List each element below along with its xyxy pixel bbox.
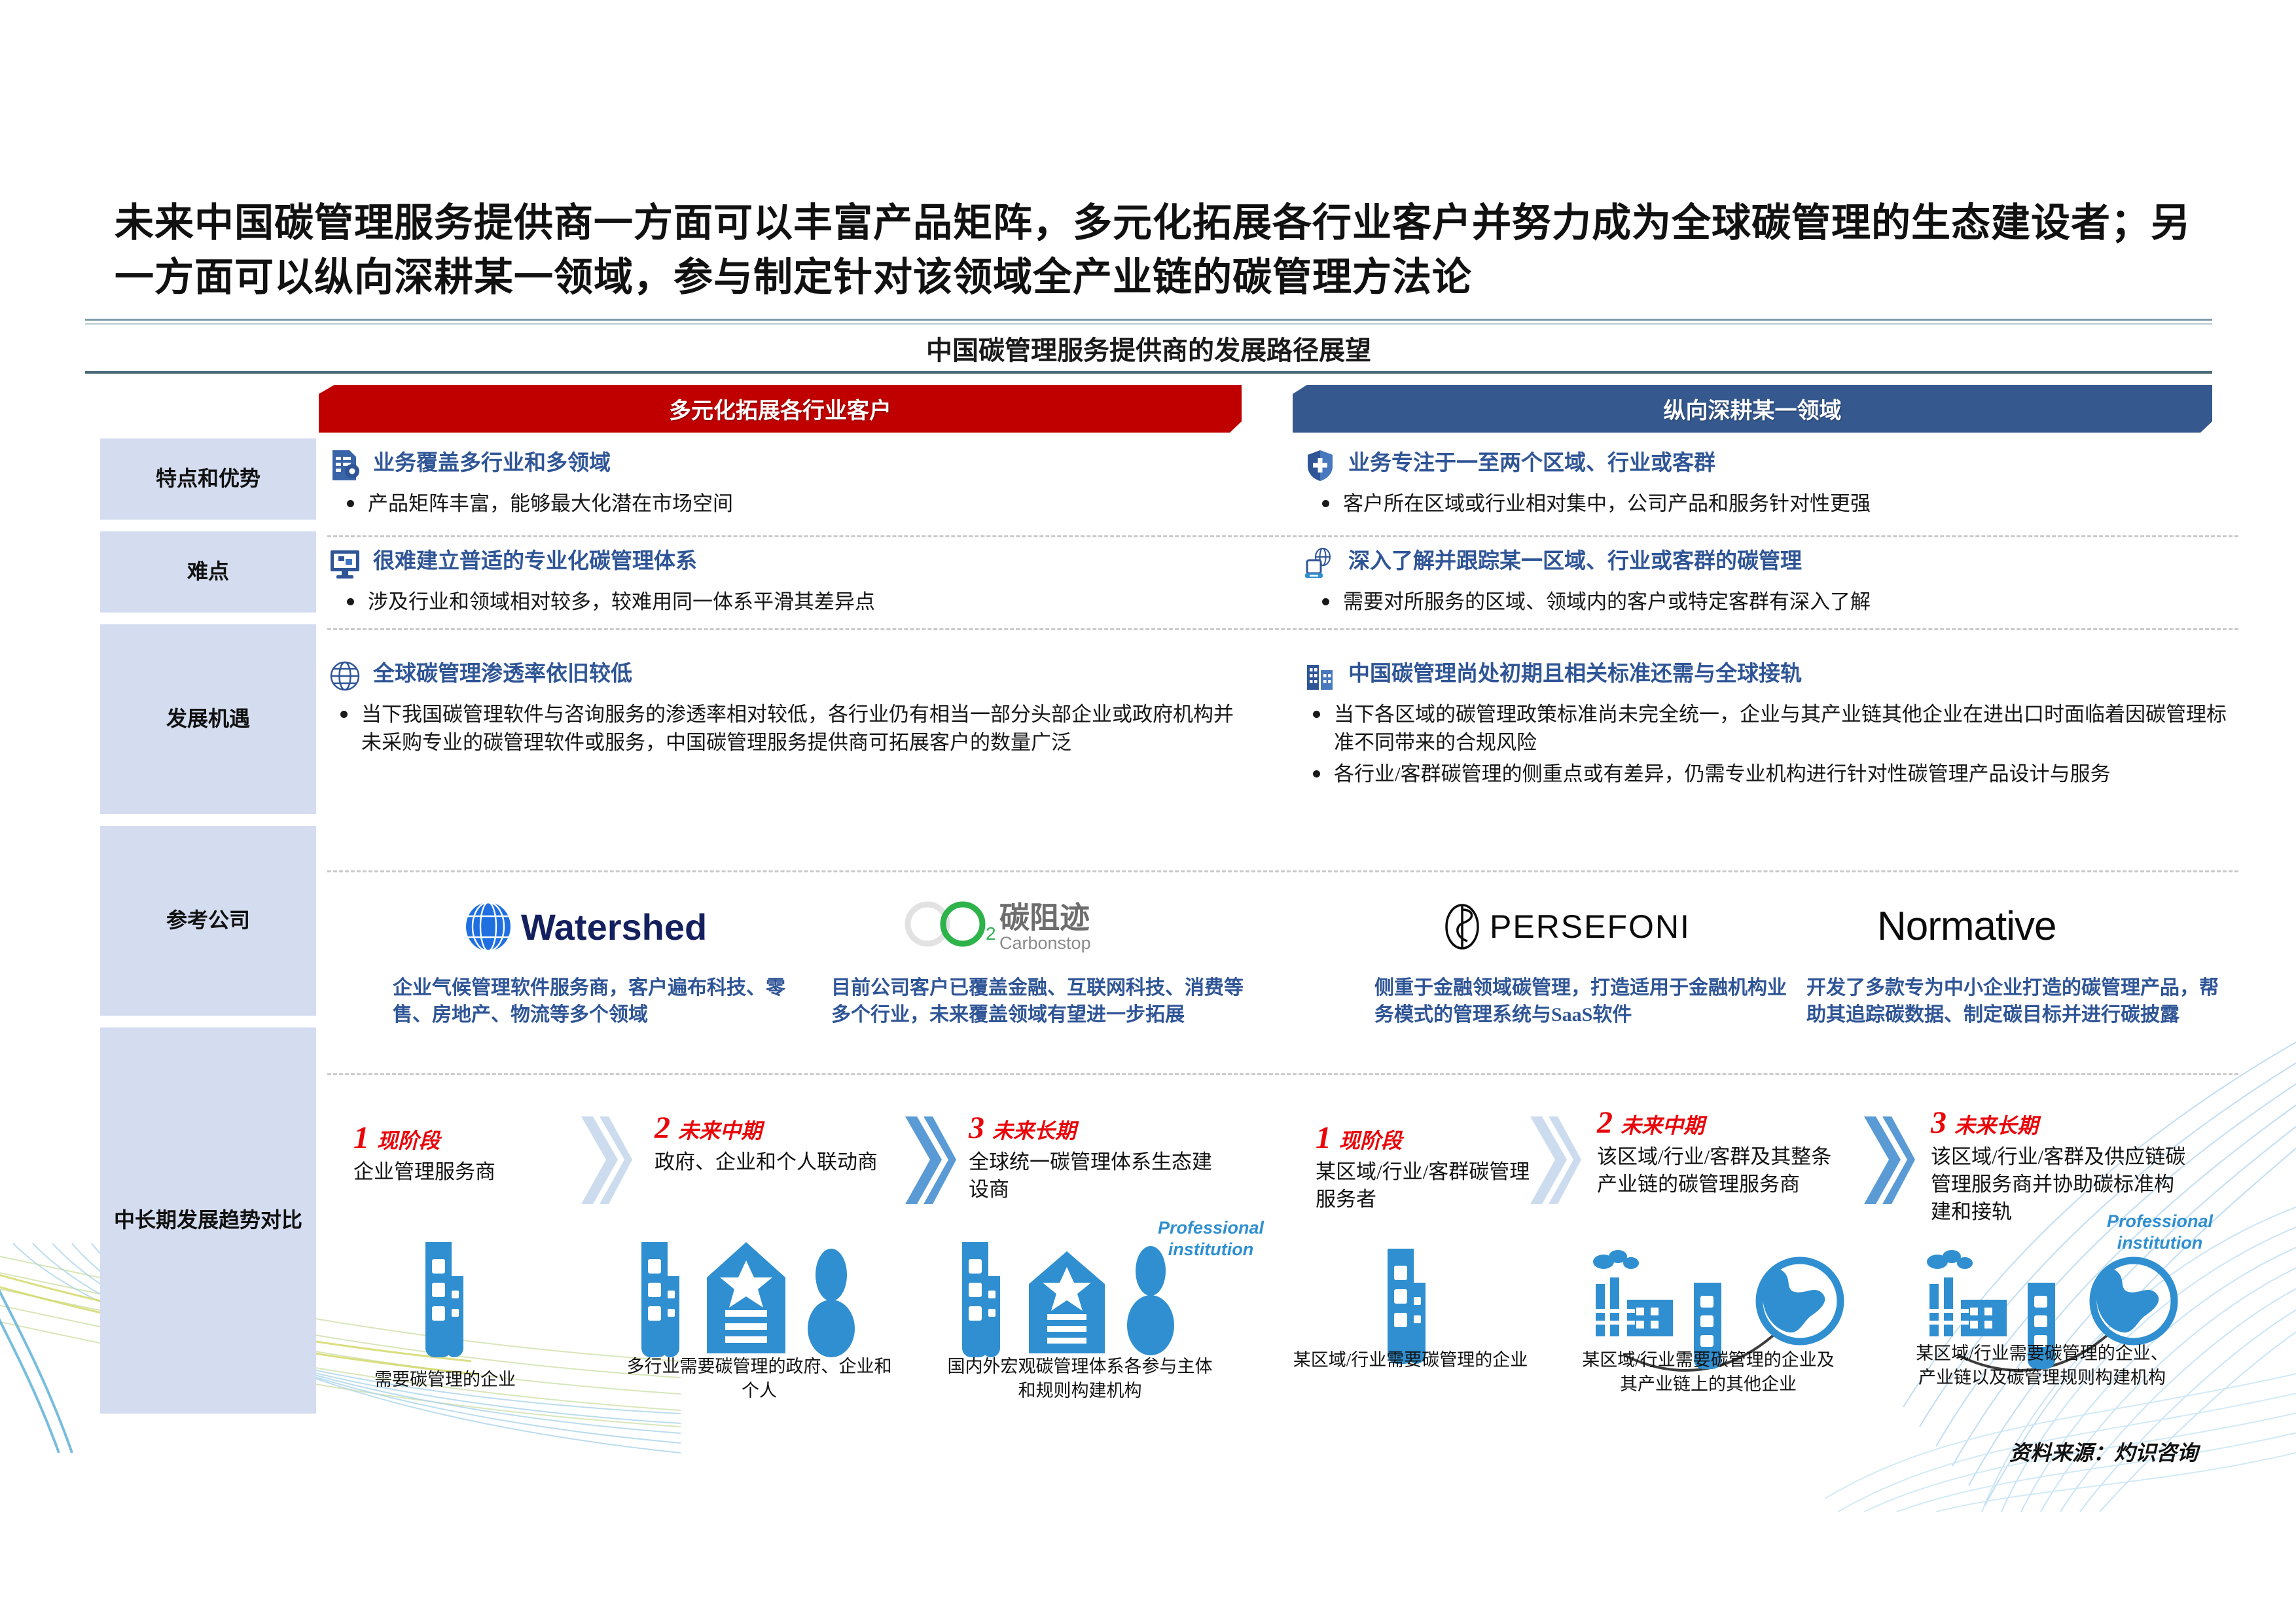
normative-logo: Normative: [1806, 895, 2219, 957]
icon-caption-left-1: 需要碳管理的企业: [295, 1368, 596, 1392]
trend-stage-left-2: 2 未来中期 政府、企业和个人联动商: [655, 1113, 890, 1176]
cell-difficulties-right: 深入了解并跟踪某一区域、行业或客群的碳管理 需要对所服务的区域、领域内的客户或特…: [1302, 548, 2238, 618]
banner-vertical-depth: 纵向深耕某一领域: [1293, 385, 2212, 433]
stage-number: 1: [353, 1122, 369, 1154]
bullet-list: 需要对所服务的区域、领域内的客户或特定客群有深入了解: [1302, 588, 2238, 616]
heading-text: 深入了解并跟踪某一区域、行业或客群的碳管理: [1348, 548, 1802, 575]
cell-opportunities-left: 全球碳管理渗透率依旧较低 当下我国碳管理软件与咨询服务的渗透率相对较低，各行业仍…: [327, 661, 1244, 760]
company-card-carbonstop: 2 碳阻迹 Carbonstop 目前公司客户已覆盖金融、互联网科技、消费等多个…: [831, 895, 1244, 1029]
row-separator-4: [327, 1073, 2238, 1075]
globe-icon: [2093, 1260, 2174, 1342]
trend-stage-right-3: 3 未来长期 该区域/行业/客群及供应链碳管理服务商并协助碳标准构建和接轨: [1931, 1107, 2186, 1226]
stage-phase: 未来中期: [1621, 1109, 1704, 1139]
svg-text:Watershed: Watershed: [521, 906, 707, 948]
document-gear-icon: [327, 448, 363, 483]
stage-desc: 全球统一碳管理体系生态建设商: [969, 1149, 1230, 1204]
company-card-normative: Normative 开发了多款专为中小企业打造的碳管理产品，帮助其追踪碳数据、制…: [1806, 895, 2219, 1029]
buildings-icon: [1302, 658, 1338, 694]
heading-text: 业务专注于一至两个区域、行业或客群: [1348, 450, 1715, 476]
stage-phase: 未来长期: [992, 1115, 1076, 1145]
trend-stage-right-2: 2 未来中期 该区域/行业/客群及其整条产业链的碳管理服务商: [1597, 1107, 1846, 1198]
globe-laptop-icon: [1302, 546, 1338, 581]
subtitle-rule-top: [85, 319, 2212, 321]
chevron-arrow-right-1: [1525, 1113, 1581, 1211]
shield-icon: [1302, 448, 1338, 483]
chevron-arrow-left-2: [900, 1113, 956, 1211]
building-icon: [641, 1242, 679, 1357]
stage-phase: 未来中期: [678, 1115, 762, 1145]
stage-desc: 该区域/行业/客群及其整条产业链的碳管理服务商: [1597, 1143, 1846, 1198]
person-icon: [1127, 1246, 1174, 1355]
svg-text:PERSEFONI: PERSEFONI: [1490, 908, 1691, 945]
page-title: 未来中国碳管理服务提供商一方面可以丰富产品矩阵，多元化拓展各行业客户并努力成为全…: [115, 196, 2196, 305]
stage-desc: 企业管理服务商: [353, 1158, 583, 1186]
row-label-advantages: 特点和优势: [100, 438, 316, 520]
person-icon: [808, 1249, 855, 1357]
chevron-arrow-right-2: [1859, 1113, 1915, 1211]
bullet-item: 当下各区域的碳管理政策标准尚未完全统一，企业与其产业链其他企业在进出口时面临着因…: [1305, 700, 2238, 757]
bullet-item: 各行业/客群碳管理的侧重点或有差异，仍需专业机构进行针对性碳管理产品设计与服务: [1305, 760, 2238, 788]
svg-text:Carbonstop: Carbonstop: [999, 933, 1091, 953]
bullet-list: 客户所在区域或行业相对集中，公司产品和服务针对性更强: [1302, 490, 2238, 518]
cell-advantages-left: 业务覆盖多行业和多领域 产品矩阵丰富，能够最大化潜在市场空间: [327, 450, 1244, 520]
bullet-item: 涉及行业和领域相对较多，较难用同一体系平滑其差异点: [339, 588, 1244, 616]
government-icon: [707, 1242, 785, 1353]
row-label-opportunities: 发展机遇: [100, 624, 316, 814]
bullet-item: 需要对所服务的区域、领域内的客户或特定客群有深入了解: [1314, 588, 2238, 616]
prof-institution-tag-left: Professional institution: [1139, 1217, 1283, 1260]
icon-caption-left-2: 多行业需要碳管理的政府、企业和个人: [622, 1355, 897, 1402]
icon-caption-right-3: 某区域/行业需要碳管理的企业、产业链以及碳管理规则构建机构: [1911, 1342, 2173, 1389]
bullet-list: 当下我国碳管理软件与咨询服务的渗透率相对较低，各行业仍有相当一部分头部企业或政府…: [327, 700, 1244, 757]
heading-text: 业务覆盖多行业和多领域: [373, 450, 611, 476]
trend-stage-left-1: 1 现阶段 企业管理服务商: [353, 1122, 583, 1186]
svg-text:Normative: Normative: [1877, 904, 2056, 949]
slide-root: 未来中国碳管理服务提供商一方面可以丰富产品矩阵，多元化拓展各行业客户并努力成为全…: [0, 0, 2296, 1623]
factory-icon: [1923, 1250, 2007, 1336]
bullet-list: 当下各区域的碳管理政策标准尚未完全统一，企业与其产业链其他企业在进出口时面临着因…: [1302, 700, 2238, 788]
building-icon: [962, 1242, 1000, 1357]
stage-number: 2: [1597, 1107, 1613, 1139]
prof-institution-tag-right: Professional institution: [2088, 1211, 2232, 1254]
company-caption: 侧重于金融领域碳管理，打造适用于金融机构业务模式的管理系统与SaaS软件: [1374, 974, 1787, 1029]
banner-diversified-expansion: 多元化拓展各行业客户: [319, 385, 1242, 433]
globe-icon: [327, 658, 363, 694]
icon-caption-left-3: 国内外宏观碳管理体系各参与主体和规则构建机构: [942, 1355, 1217, 1402]
stage-number: 3: [969, 1113, 984, 1144]
subtitle-rule-bottom: [85, 371, 2212, 374]
row-separator-1: [327, 535, 2238, 537]
icon-group-left-1: [406, 1237, 478, 1364]
trend-stage-left-3: 3 未来长期 全球统一碳管理体系生态建设商: [969, 1113, 1230, 1204]
stage-number: 2: [655, 1113, 670, 1144]
subtitle: 中国碳管理服务提供商的发展路径展望: [85, 325, 2212, 371]
bullet-item: 当下我国碳管理软件与咨询服务的渗透率相对较低，各行业仍有相当一部分头部企业或政府…: [332, 700, 1244, 757]
icon-caption-right-1: 某区域/行业需要碳管理的企业: [1293, 1348, 1528, 1372]
stage-number: 1: [1316, 1122, 1331, 1154]
row-separator-2: [327, 628, 2238, 630]
chevron-arrow-left-1: [576, 1113, 632, 1211]
stage-phase: 现阶段: [1339, 1124, 1402, 1154]
svg-text:碳阻迹: 碳阻迹: [999, 901, 1090, 935]
globe-icon: [1759, 1260, 1840, 1342]
heading-text: 中国碳管理尚处初期且相关标准还需与全球接轨: [1348, 661, 1802, 687]
icon-group-left-2: [628, 1237, 890, 1364]
company-caption: 目前公司客户已覆盖金融、互联网科技、消费等多个行业，未来覆盖领域有望进一步拓展: [831, 974, 1244, 1029]
row-label-difficulties: 难点: [100, 531, 316, 613]
company-caption: 企业气候管理软件服务商，客户遍布科技、零售、房地产、物流等多个领域: [393, 974, 805, 1029]
bullet-item: 客户所在区域或行业相对集中，公司产品和服务针对性更强: [1314, 490, 2238, 518]
cell-difficulties-left: 很难建立普适的专业化碳管理体系 涉及行业和领域相对较多，较难用同一体系平滑其差异…: [327, 548, 1244, 618]
company-card-watershed: Watershed 企业气候管理软件服务商，客户遍布科技、零售、房地产、物流等多…: [393, 895, 805, 1029]
stage-number: 3: [1931, 1107, 1946, 1139]
building-icon: [1388, 1249, 1426, 1364]
bullet-list: 涉及行业和领域相对较多，较难用同一体系平滑其差异点: [327, 588, 1244, 616]
icon-caption-right-2: 某区域/行业需要碳管理的企业及其产业链上的其他企业: [1577, 1348, 1839, 1396]
building-icon: [425, 1242, 463, 1357]
row-label-trends: 中长期发展趋势对比: [100, 1027, 316, 1414]
subtitle-rule-top-thin: [85, 323, 2212, 325]
stage-phase: 现阶段: [377, 1124, 440, 1154]
svg-text:2: 2: [986, 923, 996, 944]
stage-phase: 未来长期: [1954, 1109, 2038, 1139]
monitor-icon: [327, 546, 363, 581]
persefoni-logo: PERSEFONI: [1374, 895, 1787, 957]
trend-stage-right-1: 1 现阶段 某区域/行业/客群碳管理服务者: [1316, 1122, 1538, 1213]
company-card-persefoni: PERSEFONI 侧重于金融领域碳管理，打造适用于金融机构业务模式的管理系统与…: [1374, 895, 1787, 1029]
stage-desc: 政府、企业和个人联动商: [655, 1149, 890, 1176]
watershed-logo: Watershed: [393, 895, 805, 957]
stage-desc: 某区域/行业/客群碳管理服务者: [1316, 1158, 1538, 1213]
carbonstop-logo: 2 碳阻迹 Carbonstop: [831, 895, 1244, 957]
cell-advantages-right: 业务专注于一至两个区域、行业或客群 客户所在区域或行业相对集中，公司产品和服务针…: [1302, 450, 2238, 520]
heading-text: 很难建立普适的专业化碳管理体系: [373, 548, 697, 575]
government-icon: [1029, 1251, 1105, 1353]
bullet-item: 产品矩阵丰富，能够最大化潜在市场空间: [339, 490, 1244, 518]
source-attribution: 资料来源：灼识咨询: [2009, 1436, 2198, 1467]
cell-opportunities-right: 中国碳管理尚处初期且相关标准还需与全球接轨 当下各区域的碳管理政策标准尚未完全统…: [1302, 661, 2238, 791]
heading-text: 全球碳管理渗透率依旧较低: [373, 661, 632, 687]
bullet-list: 产品矩阵丰富，能够最大化潜在市场空间: [327, 490, 1244, 518]
factory-icon: [1589, 1250, 1673, 1336]
company-caption: 开发了多款专为中小企业打造的碳管理产品，帮助其追踪碳数据、制定碳目标并进行碳披露: [1806, 974, 2219, 1029]
row-separator-3: [327, 870, 2238, 872]
row-label-companies: 参考公司: [100, 826, 316, 1016]
